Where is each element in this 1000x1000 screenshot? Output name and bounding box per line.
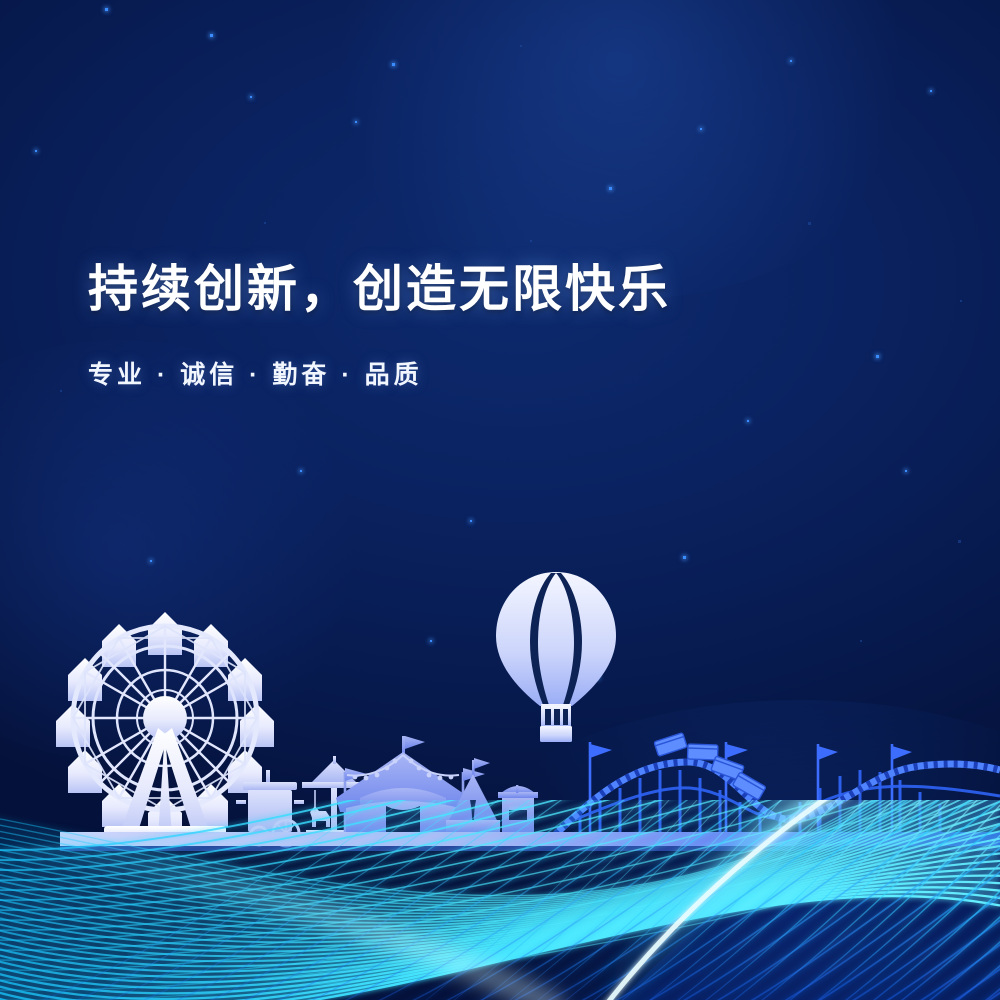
hero-text-block: 持续创新，创造无限快乐专业 · 诚信 · 勤奋 · 品质 (88, 262, 671, 391)
subtitle: 专业 · 诚信 · 勤奋 · 品质 (88, 355, 671, 391)
glowing-wave-mesh (0, 0, 1000, 1000)
headline: 持续创新，创造无限快乐 (88, 262, 671, 317)
poster-canvas: 持续创新，创造无限快乐专业 · 诚信 · 勤奋 · 品质 (0, 0, 1000, 1000)
